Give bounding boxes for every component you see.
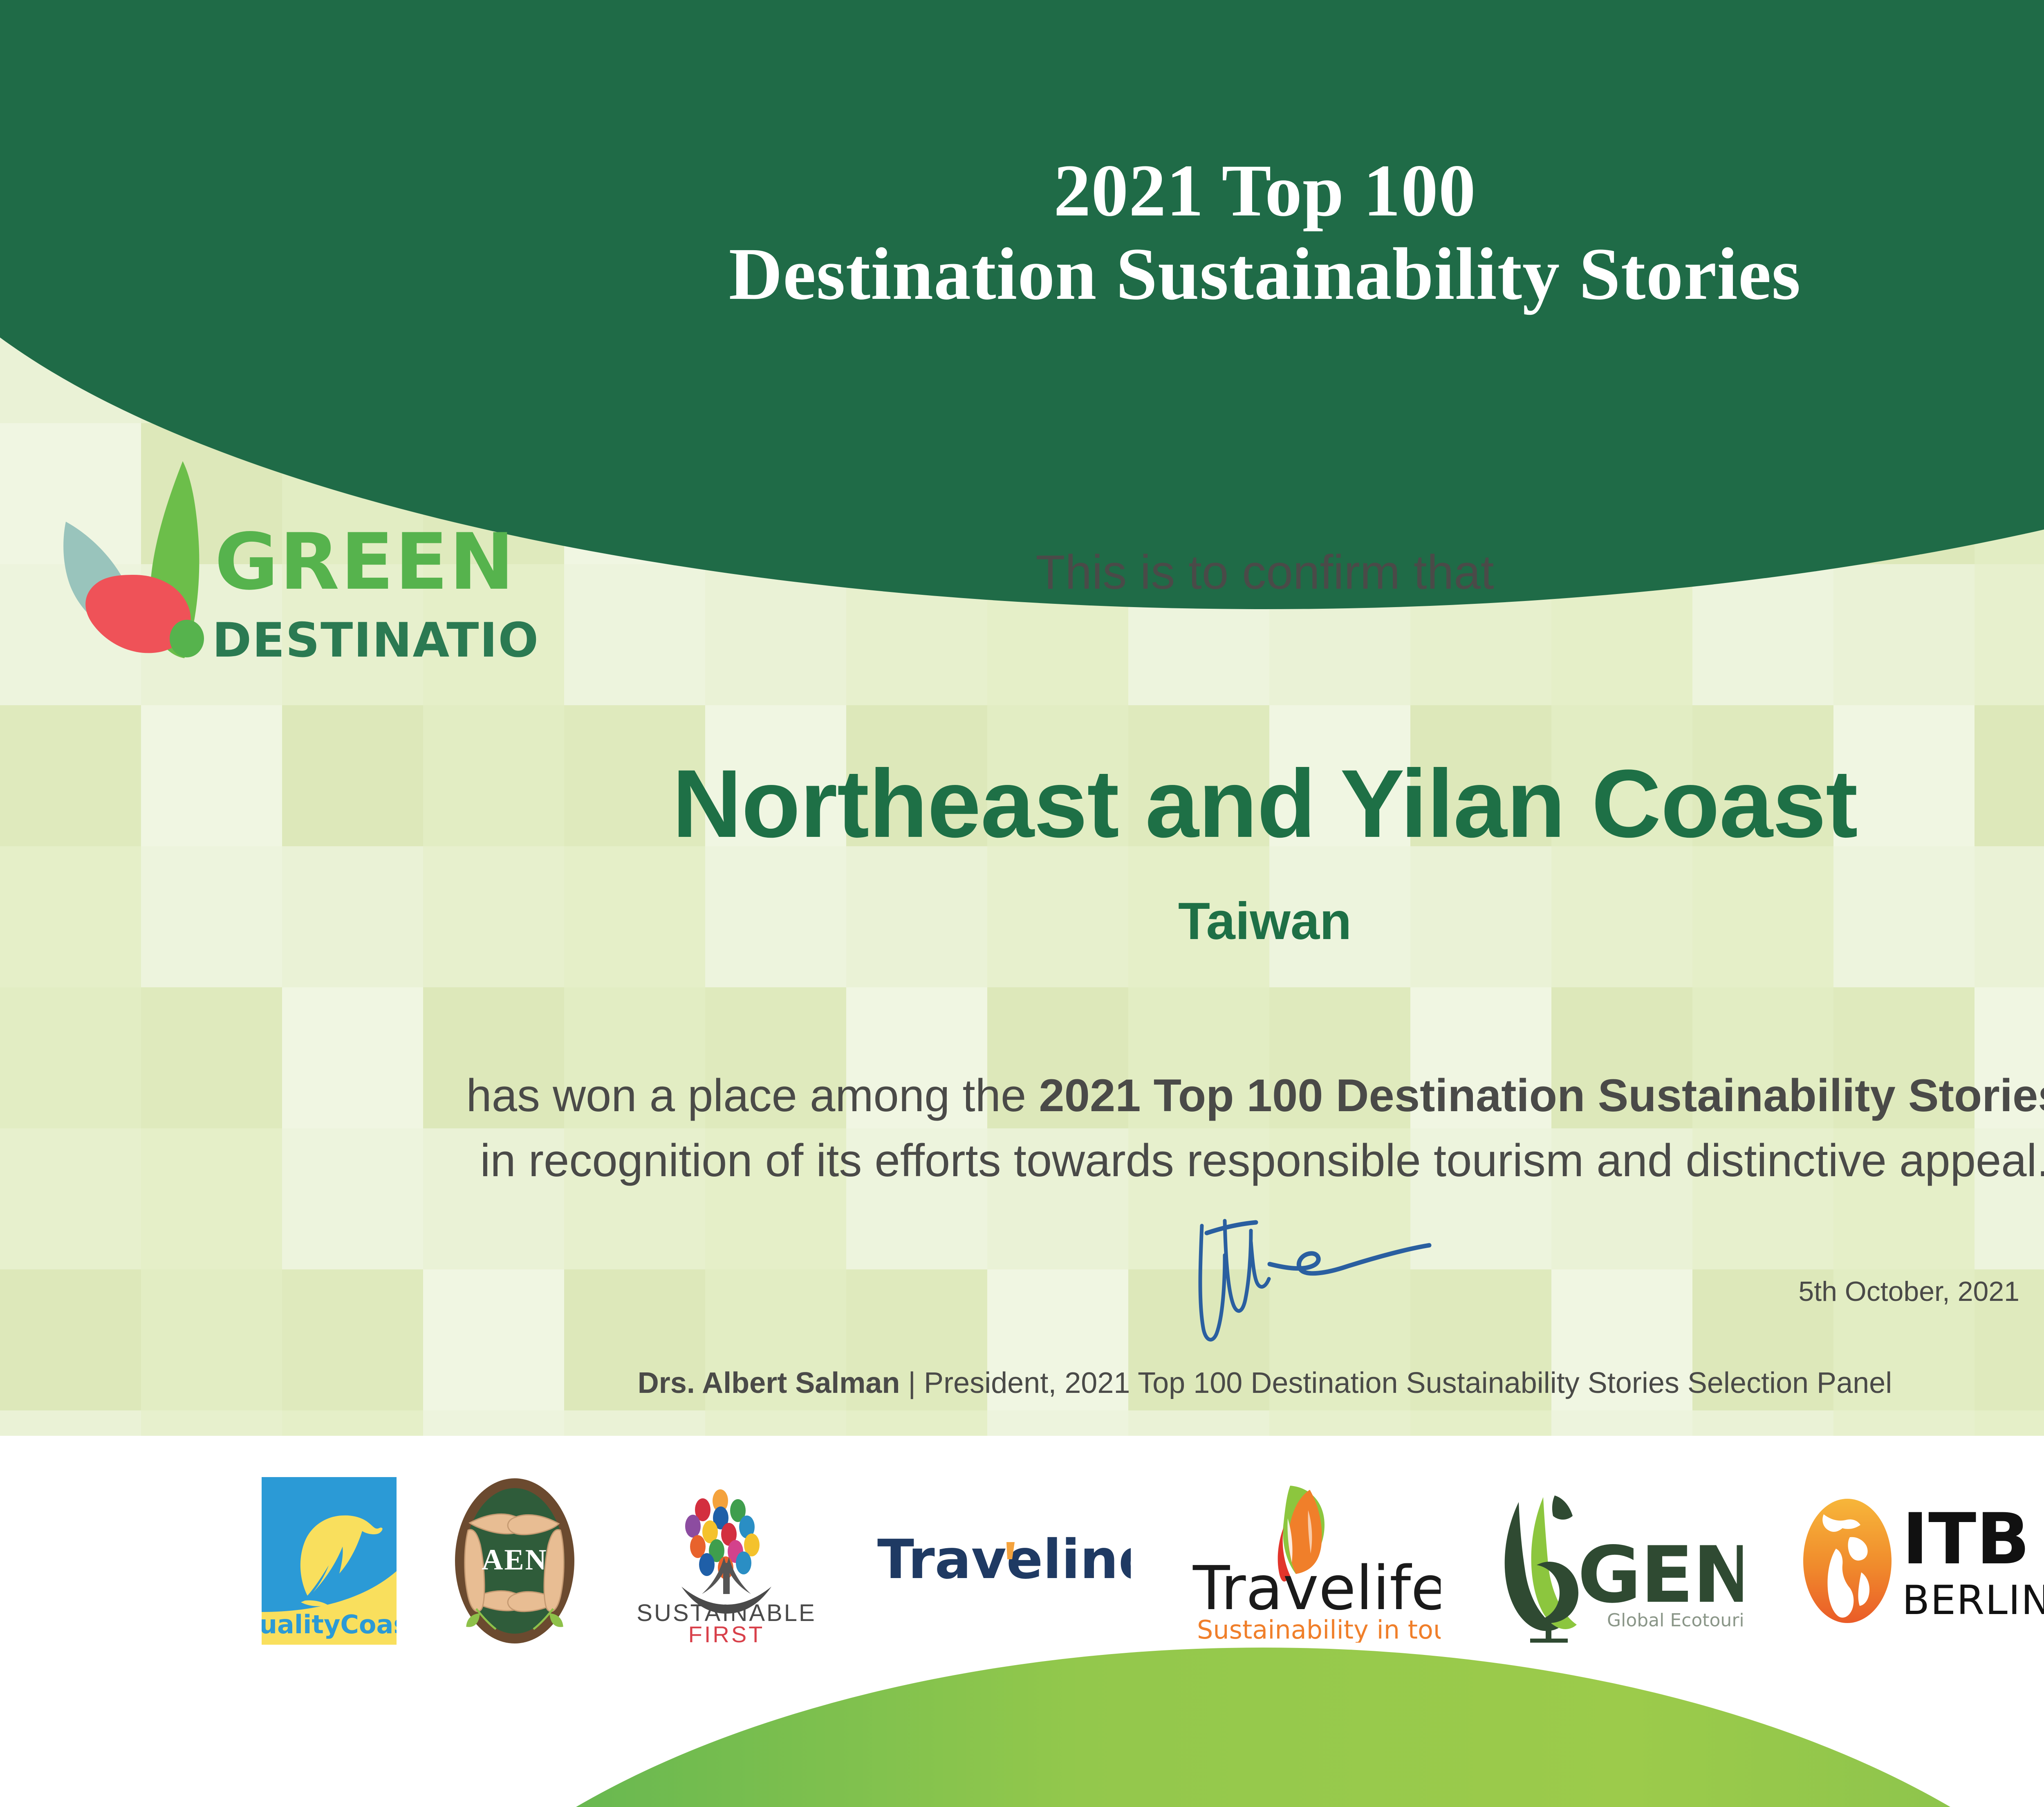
caption-separator: | xyxy=(908,1367,916,1399)
bottom-green-arc xyxy=(347,1648,2044,1807)
certificate-title: 2021 Top 100 Destination Sustainability … xyxy=(0,149,2044,316)
travelindex-wordmark: Travelindex xyxy=(877,1528,1131,1591)
travelife-wordmark: Travelife xyxy=(1192,1553,1441,1623)
signature-date: 5th October, 2021 xyxy=(0,1276,2019,1307)
green-destinations-logo: GREEN DESTINATIONS xyxy=(39,454,542,670)
aen-wordmark: AEN xyxy=(482,1543,547,1576)
itb-wordmark: ITB xyxy=(1902,1498,2030,1580)
award-paragraph: has won a place among the 2021 Top 100 D… xyxy=(0,1063,2044,1193)
gen-wordmark: GEN xyxy=(1578,1530,1743,1620)
handwritten-signature xyxy=(1173,1218,1594,1357)
logo-dot-icon xyxy=(170,620,204,657)
destination-name: Northeast and Yilan Coast xyxy=(0,748,2044,859)
title-line-2: Destination Sustainability Stories xyxy=(0,233,2044,316)
title-line-1: 2021 Top 100 xyxy=(0,149,2044,233)
certificate-canvas: 2021 Top 100 Destination Sustainability … xyxy=(0,0,2044,1807)
signature-caption: Drs. Albert Salman | President, 2021 Top… xyxy=(0,1366,2044,1400)
destination-country: Taiwan xyxy=(0,891,2044,951)
globe-icon xyxy=(1803,1499,1892,1623)
leaf-globe-icon xyxy=(1505,1495,1578,1643)
partner-logo-strip: QualityCoast xyxy=(0,1436,2044,1807)
partner-logo-row: QualityCoast xyxy=(262,1475,2044,1647)
partner-logo-sustainable-first[interactable]: SUSTAINABLE FIRST xyxy=(632,1477,820,1645)
gen-tagline: Global Ecotourism Network xyxy=(1607,1610,1743,1631)
award-bold: 2021 Top 100 Destination Sustainability … xyxy=(1039,1070,2044,1121)
partner-logo-gen[interactable]: GEN Global Ecotourism Network xyxy=(1497,1479,1743,1643)
logo-word-destinations: DESTINATIONS xyxy=(212,613,542,668)
colorful-tree-icon xyxy=(681,1489,771,1614)
qualitycoast-wordmark: QualityCoast xyxy=(262,1610,397,1639)
berlin-wordmark: BERLIN xyxy=(1902,1577,2044,1624)
first-wordmark: FIRST xyxy=(688,1621,765,1645)
logo-word-green: GREEN xyxy=(215,517,515,607)
partner-logo-qualitycoast[interactable]: QualityCoast xyxy=(262,1477,397,1645)
partner-logo-aen[interactable]: AEN xyxy=(453,1477,576,1645)
travelife-tagline: Sustainability in tourism xyxy=(1197,1615,1441,1643)
signer-name: Drs. Albert Salman xyxy=(638,1367,900,1399)
partner-logo-travelife[interactable]: Travelife Sustainability in tourism xyxy=(1187,1479,1441,1643)
partner-logo-travelindex[interactable]: Travelindex xyxy=(877,1524,1131,1598)
award-line-2: in recognition of its efforts towards re… xyxy=(0,1128,2044,1193)
award-prefix: has won a place among the xyxy=(466,1070,1039,1121)
partner-logo-itb-berlin[interactable]: ITB BERLIN xyxy=(1799,1479,2044,1643)
signer-title: President, 2021 Top 100 Destination Sust… xyxy=(924,1367,1892,1399)
